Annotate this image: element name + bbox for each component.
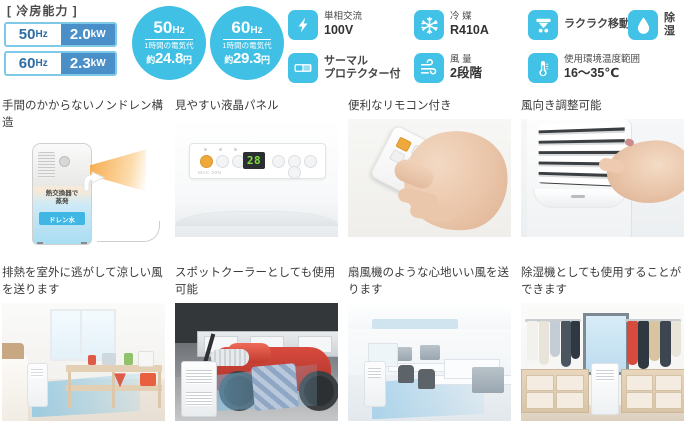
capacity-frequency-60-unit: Hz xyxy=(35,58,47,69)
desk-object-red xyxy=(88,355,96,365)
product-spec-sheet: [ 冷房能力 ] 50Hz 2.0kW 60Hz 2.3kW 50Hz 1時間の… xyxy=(0,0,684,429)
garment-3 xyxy=(550,321,560,357)
garment-8 xyxy=(649,321,660,361)
shelf-unit-left xyxy=(521,369,589,413)
running-cost-50-divider xyxy=(145,39,193,40)
monitor-2 xyxy=(420,345,440,360)
spot-cooler-unit xyxy=(181,361,217,417)
spec-header: [ 冷房能力 ] 50Hz 2.0kW 60Hz 2.3kW 50Hz 1時間の… xyxy=(0,0,684,96)
drain-water-ribbon: ドレン水 xyxy=(39,212,85,225)
feature-card-remote: 便利なリモコン付き xyxy=(348,98,511,253)
garment-7 xyxy=(638,321,649,369)
cubby-8 xyxy=(655,392,682,409)
airflow-arrow-icon xyxy=(80,171,108,193)
cubby-1 xyxy=(526,375,554,391)
capacity-row-50hz: 50Hz 2.0kW xyxy=(4,22,117,47)
running-cost-60-hz-unit: Hz xyxy=(250,25,262,36)
feature-air-volume: 風 量 2段階 xyxy=(414,53,482,83)
feature-easy-move-text: ラクラク移動 xyxy=(564,18,630,31)
running-cost-50-unit: 円 xyxy=(183,55,192,65)
feature-easy-move: ラクラク移動 xyxy=(528,10,630,40)
thermal-protector-icon xyxy=(288,53,318,83)
unit-logo xyxy=(571,195,585,198)
feature-thermal-protector-line2: プロテクター付 xyxy=(324,68,401,81)
remote-in-hand-photo xyxy=(348,119,511,237)
indicator-led-1 xyxy=(204,148,207,151)
portable-ac-unit xyxy=(27,363,48,407)
evaporation-label-line1: 熱交換器で xyxy=(46,190,79,197)
wind-icon xyxy=(414,53,444,83)
snowflake-icon xyxy=(414,10,444,40)
ac-vent-bottom xyxy=(186,392,212,406)
running-cost-50-hz-unit: Hz xyxy=(172,25,184,36)
window-mullion xyxy=(80,309,82,357)
feature-card-lcd-panel-caption: 見やすい液晶パネル xyxy=(175,98,338,115)
feature-temperature-range-line1: 使用環境温度範囲 xyxy=(564,54,640,66)
garment-1 xyxy=(527,321,538,361)
capacity-frequency-50-value: 50 xyxy=(19,26,36,43)
cubby-6 xyxy=(655,375,682,391)
running-cost-badge-60hz: 60Hz 1時間の電気代 約29.3円 xyxy=(210,6,284,80)
shelf-unit-right xyxy=(621,369,684,413)
unit-vent xyxy=(38,152,55,178)
feature-dehumidify-label: 除 湿 xyxy=(664,12,684,38)
unit-body-seam xyxy=(175,211,338,226)
power-cord xyxy=(97,221,160,242)
garage-scene-photo xyxy=(175,303,338,421)
feature-card-louver: 風向き調整可能 xyxy=(521,98,684,253)
ac-vent-top xyxy=(186,370,212,384)
bedroom-scene-photo xyxy=(2,303,165,421)
feature-dehumidify: 除 湿 xyxy=(628,10,684,40)
feature-power-supply-text: 単相交流 100V xyxy=(324,11,362,39)
feature-dehumidify-text: 除 湿 xyxy=(664,12,684,38)
remote-power-button xyxy=(395,137,412,153)
cooling-capacity-title: [ 冷房能力 ] xyxy=(7,2,124,19)
cubby-7 xyxy=(626,392,653,409)
chair-2 xyxy=(418,369,435,389)
feature-temperature-range-text: 使用環境温度範囲 16〜35℃ xyxy=(564,54,640,82)
cubby-2 xyxy=(556,375,584,391)
capacity-output-60-value: 2.3 xyxy=(70,55,91,72)
desk-plant xyxy=(124,353,133,365)
evaporation-label-line2: 蒸発 xyxy=(56,198,69,205)
cooling-capacity-block: [ 冷房能力 ] 50Hz 2.0kW 60Hz 2.3kW xyxy=(4,2,124,80)
desk-leg-mid xyxy=(112,372,115,408)
capacity-frequency-60-value: 60 xyxy=(19,55,36,72)
capacity-row-60hz: 60Hz 2.3kW xyxy=(4,51,117,76)
capacity-frequency-50: 50Hz xyxy=(6,24,61,45)
photo-row-1: 手間のかからないノンドレン構造 熱交換器で 蒸発 ドレン水 xyxy=(0,98,684,253)
headboard xyxy=(2,343,24,359)
running-cost-60-amount: 約29.3円 xyxy=(224,50,269,67)
portable-ac-illustration: 熱交換器で 蒸発 ドレン水 xyxy=(32,143,92,245)
capacity-output-60: 2.3kW xyxy=(61,53,116,74)
bed xyxy=(2,355,28,421)
water-drop-icon xyxy=(628,10,658,40)
chair-1 xyxy=(398,365,414,383)
temperature-display-value: 28 xyxy=(247,154,261,167)
feature-temperature-range-line2: 16〜35℃ xyxy=(564,66,640,82)
garment-10 xyxy=(671,321,681,357)
ac-vent xyxy=(368,368,381,378)
running-cost-50-hz-value: 50 xyxy=(153,18,172,37)
garment-5 xyxy=(571,321,580,359)
desk-leg-right xyxy=(158,372,161,408)
temp-up-button[interactable] xyxy=(304,155,317,168)
desk-object-frame xyxy=(102,353,116,365)
feature-card-non-drain: 手間のかからないノンドレン構造 熱交換器で 蒸発 ドレン水 xyxy=(2,98,165,253)
feature-photo-grid: 手間のかからないノンドレン構造 熱交換器で 蒸発 ドレン水 xyxy=(0,98,684,421)
temp-down-button[interactable] xyxy=(288,166,301,179)
ac-vent xyxy=(596,370,614,382)
feature-thermal-protector-line1: サーマル xyxy=(324,55,401,68)
capacity-frequency-60: 60Hz xyxy=(6,53,61,74)
feature-power-supply: 単相交流 100V xyxy=(288,10,362,40)
cubby-4 xyxy=(556,392,584,409)
garment-4 xyxy=(561,321,571,367)
capacity-output-50-unit: kW xyxy=(91,29,106,40)
temperature-display: 28 xyxy=(243,152,265,169)
shelf-box xyxy=(140,373,156,386)
cubby-5 xyxy=(626,375,653,391)
feature-easy-move-label: ラクラク移動 xyxy=(564,18,630,31)
feature-air-volume-line1: 風 量 xyxy=(450,54,482,66)
feature-air-volume-line2: 2段階 xyxy=(450,66,482,82)
power-button[interactable] xyxy=(200,155,213,168)
feature-power-supply-line2: 100V xyxy=(324,23,362,39)
bolt-icon xyxy=(288,10,318,40)
feature-card-remote-caption: 便利なリモコン付き xyxy=(348,98,511,115)
running-cost-60-label: 1時間の電気代 xyxy=(222,42,271,50)
feature-card-dehumidifier-caption: 除湿機としても使用することができます xyxy=(521,265,684,299)
desk-leg-left xyxy=(68,372,71,408)
running-cost-badge-50hz: 50Hz 1時間の電気代 約24.8円 xyxy=(132,6,206,80)
feature-thermal-protector-text: サーマル プロテクター付 xyxy=(324,55,401,81)
closet-scene-photo xyxy=(521,303,684,421)
feature-card-spot-cooler: スポットクーラーとしても使用可能 xyxy=(175,265,338,421)
mode-button[interactable] xyxy=(216,155,229,168)
capacity-output-60-unit: kW xyxy=(91,58,106,69)
feature-refrigerant-line1: 冷 媒 xyxy=(450,11,489,23)
capacity-output-50: 2.0kW xyxy=(61,24,116,45)
feature-card-fan-mode-caption: 扇風機のような心地いい風を送ります xyxy=(348,265,511,299)
control-panel: 28 MAC-20N xyxy=(189,143,326,179)
running-cost-50-label: 1時間の電気代 xyxy=(144,42,193,50)
desk-lamp xyxy=(138,351,154,367)
timer-button[interactable] xyxy=(272,155,285,168)
capacity-frequency-50-unit: Hz xyxy=(35,29,47,40)
capacity-output-50-value: 2.0 xyxy=(70,26,91,43)
running-cost-60-hz-value: 60 xyxy=(231,18,250,37)
photo-row-2: 排熱を室外に逃がして涼しい風を送ります xyxy=(0,265,684,421)
indicator-led-2 xyxy=(219,148,222,151)
unit-lower-lip xyxy=(533,189,627,208)
louver-adjust-photo xyxy=(521,119,684,237)
running-cost-50-prefix: 約 xyxy=(146,55,155,65)
running-cost-60-value: 29.3 xyxy=(233,50,261,67)
feature-card-spot-cooler-caption: スポットクーラーとしても使用可能 xyxy=(175,265,338,299)
running-cost-50-amount: 約24.8円 xyxy=(146,50,191,67)
feature-air-volume-text: 風 量 2段階 xyxy=(450,54,482,82)
indicator-led-3 xyxy=(234,148,237,151)
feature-temperature-range: 使用環境温度範囲 16〜35℃ xyxy=(528,53,640,83)
garment-9 xyxy=(660,321,671,367)
feature-card-dehumidifier: 除湿機としても使用することができます xyxy=(521,265,684,421)
feature-card-louver-caption: 風向き調整可能 xyxy=(521,98,684,115)
portable-ac-unit xyxy=(591,363,619,415)
garment-6 xyxy=(627,321,638,365)
running-cost-60-frequency: 60Hz xyxy=(231,19,262,36)
feature-refrigerant-text: 冷 媒 R410A xyxy=(450,11,489,39)
running-cost-50-value: 24.8 xyxy=(155,50,183,67)
feature-card-non-drain-caption: 手間のかからないノンドレン構造 xyxy=(2,98,165,131)
feature-thermal-protector: サーマル プロテクター付 xyxy=(288,53,401,83)
control-panel-photo: 28 MAC-20N xyxy=(175,119,338,237)
feature-refrigerant: 冷 媒 R410A xyxy=(414,10,489,40)
ac-vent xyxy=(31,369,43,378)
feature-card-exhaust: 排熱を室外に逃がして涼しい風を送ります xyxy=(2,265,165,421)
feature-power-supply-line1: 単相交流 xyxy=(324,11,362,23)
monitor-foreground xyxy=(472,367,504,393)
office-scene-photo xyxy=(348,303,511,421)
panel-brand-label: MAC-20N xyxy=(198,170,221,175)
wall-band xyxy=(372,319,458,329)
unit-foot-right xyxy=(81,242,87,245)
bike-cover xyxy=(251,364,299,412)
unit-foot-left xyxy=(37,242,43,245)
unit-knob xyxy=(59,156,70,167)
caster-icon xyxy=(528,10,558,40)
portable-ac-unit xyxy=(364,361,386,407)
feature-card-exhaust-caption: 排熱を室外に逃がして涼しい風を送ります xyxy=(2,265,165,299)
cubby-3 xyxy=(526,392,554,409)
running-cost-60-prefix: 約 xyxy=(224,55,233,65)
feature-card-lcd-panel: 見やすい液晶パネル 28 xyxy=(175,98,338,253)
thermometer-icon xyxy=(528,53,558,83)
running-cost-60-divider xyxy=(223,39,271,40)
non-drain-diagram-photo: 熱交換器で 蒸発 ドレン水 xyxy=(2,135,165,253)
feature-card-fan-mode: 扇風機のような心地いい風を送ります xyxy=(348,265,511,421)
running-cost-60-unit: 円 xyxy=(261,55,270,65)
running-cost-50-frequency: 50Hz xyxy=(153,19,184,36)
garment-2 xyxy=(539,321,549,365)
feature-refrigerant-line2: R410A xyxy=(450,23,489,39)
